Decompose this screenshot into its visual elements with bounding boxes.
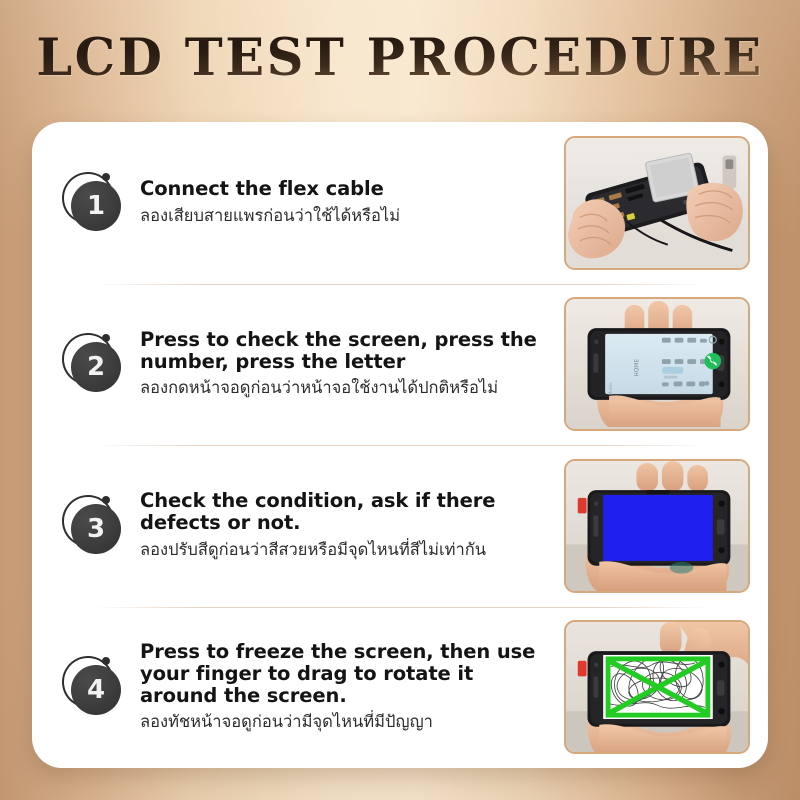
badge-dot-icon (102, 496, 110, 504)
page-title: LCD TEST PROCEDURE (36, 26, 763, 90)
step-number-3: 3 (71, 504, 121, 554)
step-subtitle-th-4: ลองทัชหน้าจอดูก่อนว่ามีจุดไหนที่มีปัญญา (140, 711, 554, 733)
step-text-3: Check the condition, ask if there defect… (140, 490, 564, 561)
step-subtitle-th-2: ลองกดหน้าจอดูก่อนว่าหน้าจอใช้งานได้ปกติห… (140, 377, 554, 399)
step-item-4: 4 Press to freeze the screen, then use y… (32, 607, 768, 769)
step-item-3: 3 Check the condition, ask if there defe… (32, 445, 768, 607)
step-number-badge-4: 4 (62, 656, 124, 718)
svg-text:HOME: HOME (634, 359, 640, 377)
step-number-badge-1: 1 (62, 172, 124, 234)
badge-dot-icon (102, 173, 110, 181)
step-subtitle-th-1: ลองเสียบสายแพรก่อนว่าใช้ได้หรือไม่ (140, 205, 554, 227)
step-number-1: 1 (71, 181, 121, 231)
step-number-badge-3: 3 (62, 495, 124, 557)
step-title-en-1: Connect the flex cable (140, 178, 554, 200)
step-item-2: 2 Press to check the screen, press the n… (32, 284, 768, 446)
page-title-container: LCD TEST PROCEDURE (0, 26, 800, 96)
phone-dialer-keypad-photo-icon: HOME Mobile (566, 299, 748, 429)
step-photo-2: HOME Mobile (564, 297, 750, 431)
step-subtitle-th-3: ลองปรับสีดูก่อนว่าสีสวยหรือมีจุดไหนที่สี… (140, 539, 554, 561)
step-number-4: 4 (71, 665, 121, 715)
step-photo-3 (564, 459, 750, 593)
badge-dot-icon (102, 657, 110, 665)
step-title-en-3: Check the condition, ask if there defect… (140, 490, 554, 534)
step-title-en-2: Press to check the screen, press the num… (140, 329, 554, 373)
phone-blue-test-screen-photo-icon (566, 461, 748, 591)
badge-dot-icon (102, 334, 110, 342)
svg-text:Mobile: Mobile (608, 382, 613, 395)
step-number-2: 2 (71, 342, 121, 392)
step-text-1: Connect the flex cable ลองเสียบสายแพรก่อ… (140, 178, 564, 227)
steps-list: 1 Connect the flex cable ลองเสียบสายแพรก… (32, 122, 768, 768)
step-number-badge-2: 2 (62, 333, 124, 395)
step-photo-1 (564, 136, 750, 270)
step-photo-4 (564, 620, 750, 754)
phone-touch-test-screen-photo-icon (566, 622, 748, 752)
hands-connecting-flex-cable-photo-icon (566, 138, 748, 268)
step-item-1: 1 Connect the flex cable ลองเสียบสายแพรก… (32, 122, 768, 284)
step-title-en-4: Press to freeze the screen, then use you… (140, 641, 554, 706)
steps-card: 1 Connect the flex cable ลองเสียบสายแพรก… (32, 122, 768, 768)
step-text-2: Press to check the screen, press the num… (140, 329, 564, 400)
step-text-4: Press to freeze the screen, then use you… (140, 641, 564, 734)
